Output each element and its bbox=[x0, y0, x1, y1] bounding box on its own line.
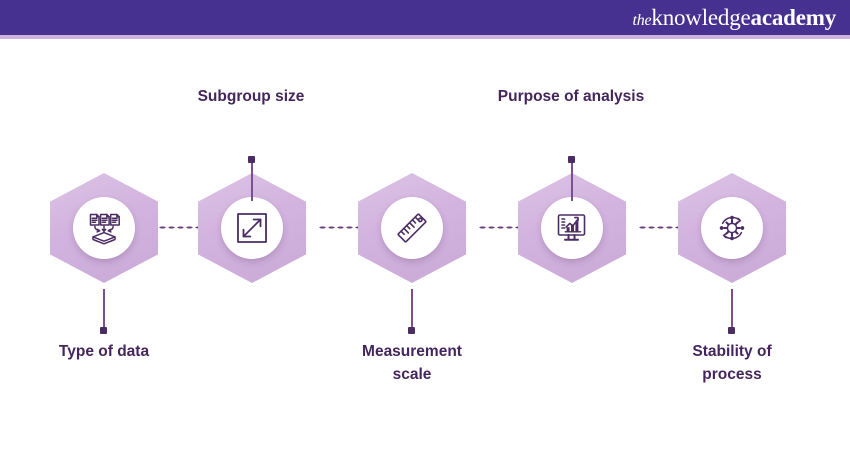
logo-knowledge-text: knowledge bbox=[651, 5, 750, 30]
stem-line-4 bbox=[571, 159, 573, 201]
stem-line-3 bbox=[411, 289, 413, 329]
icon-disc-2 bbox=[221, 197, 283, 259]
connector-rail-1-2 bbox=[158, 226, 200, 229]
connector-rail-4-5 bbox=[638, 226, 680, 229]
node-label-type-of-data: Type of data bbox=[4, 341, 204, 364]
stem-dot-5 bbox=[728, 327, 735, 334]
stem-line-5 bbox=[731, 289, 733, 329]
flow-node-measurement-scale[interactable] bbox=[358, 173, 466, 283]
stem-dot-4 bbox=[568, 156, 575, 163]
stem-line-2 bbox=[251, 159, 253, 201]
node-label-stability-of-process: Stability of process bbox=[632, 341, 832, 387]
stem-dot-1 bbox=[100, 327, 107, 334]
logo-academy-text: academy bbox=[751, 5, 836, 30]
process-flow-diagram: Type of data Subgroup size bbox=[0, 39, 850, 450]
logo-the-text: the bbox=[632, 12, 651, 29]
stem-dot-2 bbox=[248, 156, 255, 163]
node-label-measurement-scale: Measurement scale bbox=[312, 341, 512, 387]
monitor-bar-chart-growth-icon bbox=[554, 210, 590, 246]
gear-process-cycle-icon bbox=[714, 210, 750, 246]
stem-dot-3 bbox=[408, 327, 415, 334]
diagonal-resize-arrow-icon bbox=[235, 211, 269, 245]
icon-disc-3 bbox=[381, 197, 443, 259]
icon-disc-5 bbox=[701, 197, 763, 259]
flow-node-type-of-data[interactable] bbox=[50, 173, 158, 283]
node-label-subgroup-size: Subgroup size bbox=[151, 86, 351, 109]
icon-disc-1 bbox=[73, 197, 135, 259]
ruler-icon bbox=[395, 211, 429, 245]
flow-node-stability-of-process[interactable] bbox=[678, 173, 786, 283]
documents-into-tray-icon bbox=[86, 210, 122, 246]
connector-rail-2-3 bbox=[318, 226, 360, 229]
stem-line-1 bbox=[103, 289, 105, 329]
connector-rail-3-4 bbox=[478, 226, 520, 229]
icon-disc-4 bbox=[541, 197, 603, 259]
brand-logo: theknowledgeacademy bbox=[632, 6, 836, 29]
node-label-purpose-of-analysis: Purpose of analysis bbox=[471, 86, 671, 109]
header-bar: theknowledgeacademy bbox=[0, 0, 850, 35]
